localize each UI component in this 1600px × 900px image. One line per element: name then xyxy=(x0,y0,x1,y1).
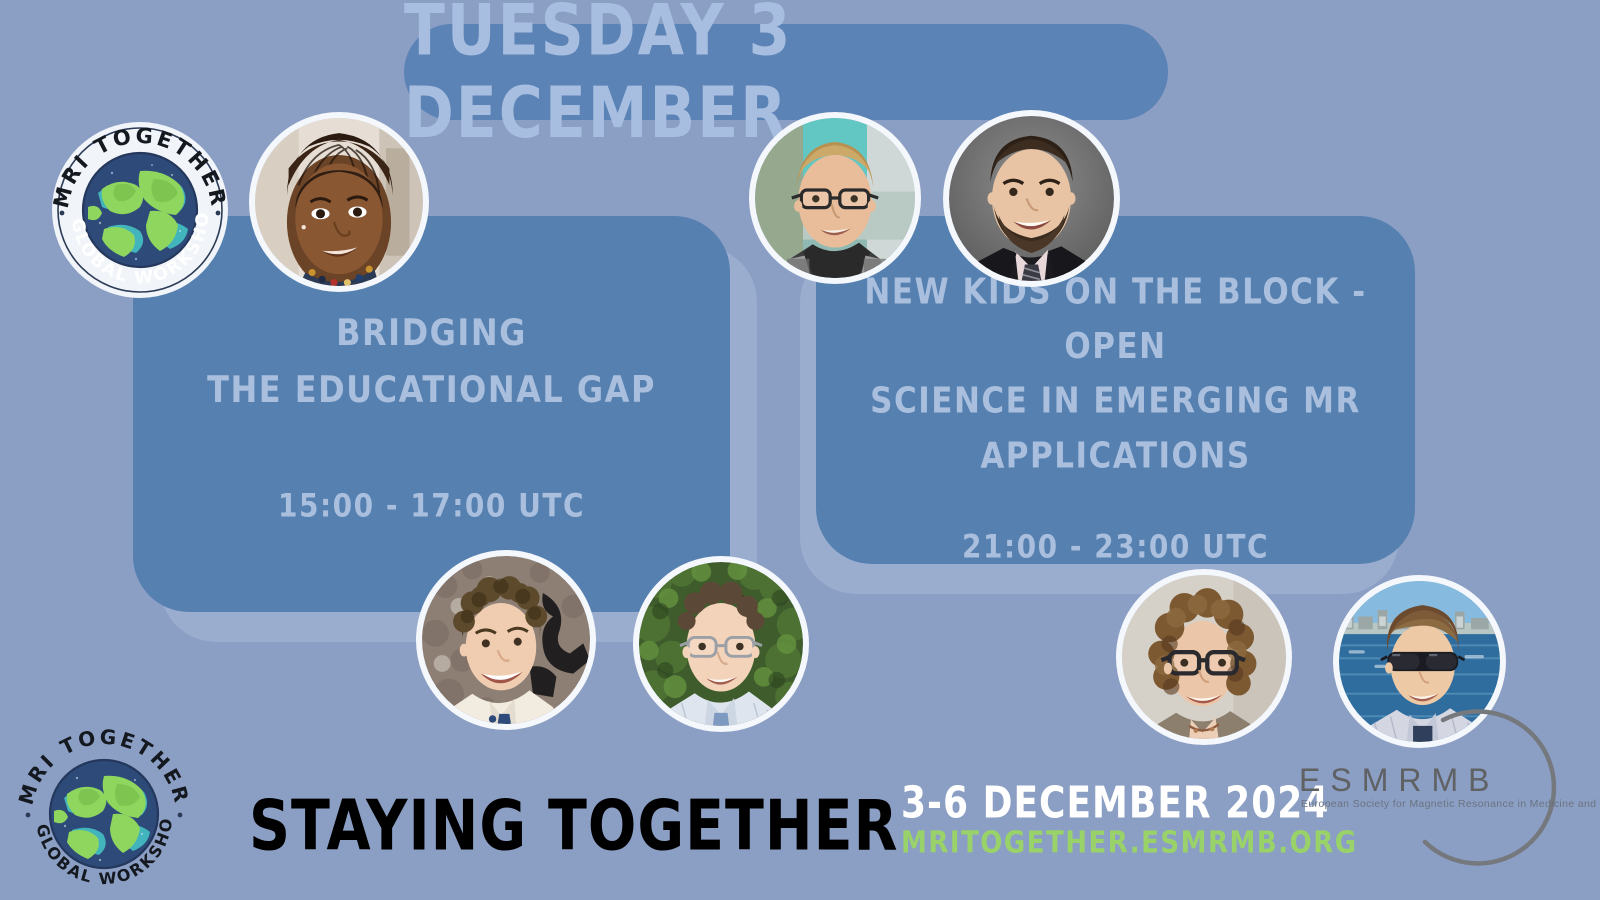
date-banner: TUESDAY 3 DECEMBER xyxy=(404,24,1168,120)
speaker-photo-3 xyxy=(949,116,1114,281)
esmrmb-logo: ESMRMB European Society for Magnetic Res… xyxy=(1285,700,1585,880)
session-time-left: 15:00 - 17:00 UTC xyxy=(278,487,585,525)
session-title-left: BRIDGING THE EDUCATIONAL GAP xyxy=(207,305,656,418)
speaker-avatar-3[interactable] xyxy=(943,110,1120,287)
speaker-avatar-1[interactable] xyxy=(249,112,429,292)
session-title-right: NEW KIDS ON THE BLOCK - OPEN SCIENCE IN … xyxy=(826,265,1406,484)
speaker-avatar-4[interactable] xyxy=(416,550,596,730)
esmrmb-wordmark: ESMRMB xyxy=(1299,762,1499,799)
speaker-photo-1 xyxy=(255,118,423,286)
mri-together-logo-top: MRI TOGETHER A GLOBAL WORKSHOP xyxy=(40,115,240,300)
speaker-photo-2 xyxy=(755,118,915,278)
session-title-right-line-3: APPLICATIONS xyxy=(826,429,1406,484)
session-title-right-line-2: SCIENCE IN EMERGING MR xyxy=(826,374,1406,429)
footer-dates: 3-6 DECEMBER 2024 xyxy=(901,779,1329,828)
session-title-right-line-1: NEW KIDS ON THE BLOCK - OPEN xyxy=(826,265,1406,375)
mri-together-logo-bottom: MRI TOGETHER A GLOBAL WORKSHOP xyxy=(8,722,200,900)
session-title-left-line-1: BRIDGING xyxy=(207,305,656,362)
footer-tagline: STAYING TOGETHER xyxy=(249,786,898,867)
speaker-avatar-6[interactable] xyxy=(1116,569,1292,745)
speaker-avatar-5[interactable] xyxy=(633,556,809,732)
esmrmb-tagline: European Society for Magnetic Resonance … xyxy=(1301,798,1600,810)
session-card-new-kids[interactable]: NEW KIDS ON THE BLOCK - OPEN SCIENCE IN … xyxy=(816,216,1415,564)
speaker-photo-4 xyxy=(422,556,590,724)
session-title-left-line-2: THE EDUCATIONAL GAP xyxy=(207,362,656,419)
speaker-photo-5 xyxy=(639,562,803,726)
session-time-right: 21:00 - 23:00 UTC xyxy=(962,528,1269,566)
speaker-avatar-2[interactable] xyxy=(749,112,921,284)
poster-canvas: TUESDAY 3 DECEMBER BRIDGING THE EDUCATIO… xyxy=(0,0,1600,900)
speaker-photo-6 xyxy=(1122,575,1286,739)
